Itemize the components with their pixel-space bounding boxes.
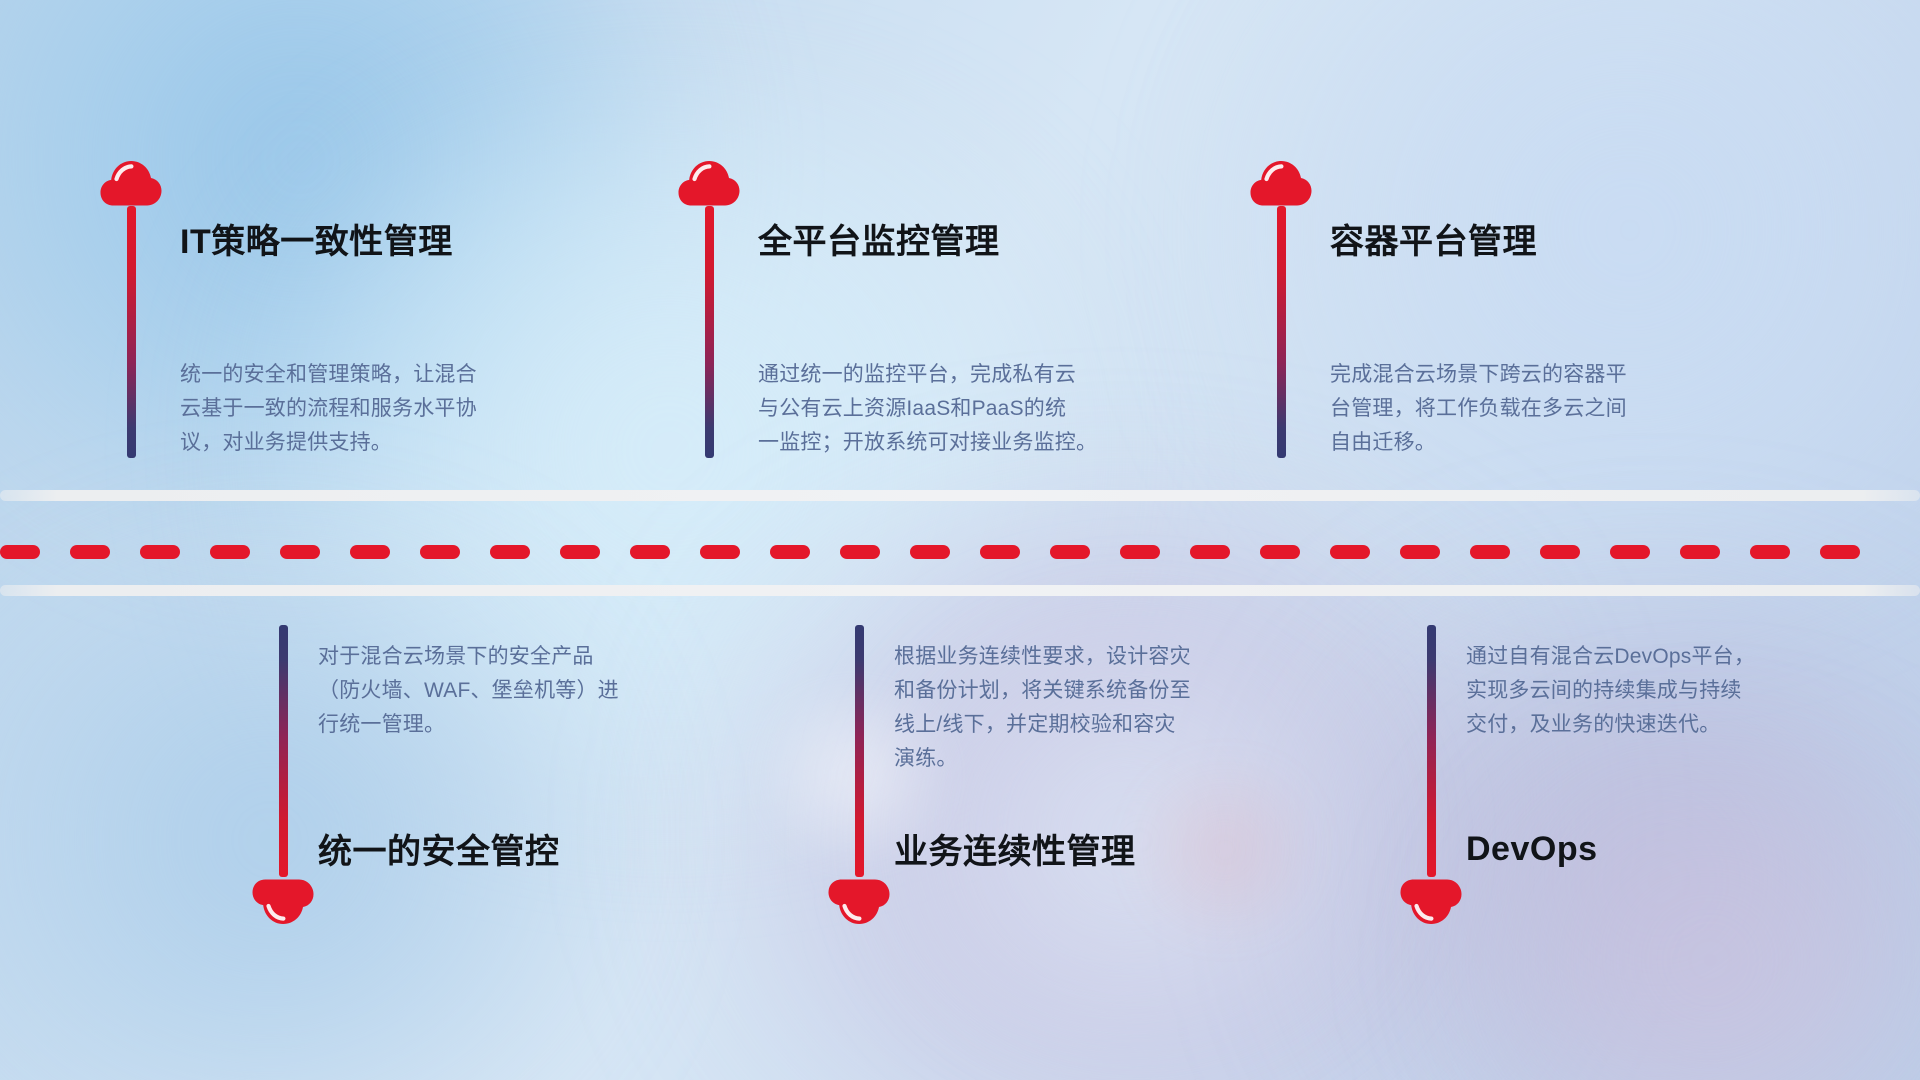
divider-dashed-line <box>0 545 1920 559</box>
background-speckle-pink <box>1110 760 1340 940</box>
top-item-3-title: 容器平台管理 <box>1330 225 1537 259</box>
divider-dash <box>1330 545 1370 559</box>
divider-dash <box>1050 545 1090 559</box>
bottom-item-3-title: DevOps <box>1466 832 1598 866</box>
divider-dash <box>1750 545 1790 559</box>
divider-dash <box>420 545 460 559</box>
bottom-item-2-body: 根据业务连续性要求，设计容灾 和备份计划，将关键系统备份至 线上/线下，并定期校… <box>894 640 1334 776</box>
divider-dash <box>630 545 670 559</box>
divider-dash <box>1680 545 1720 559</box>
cloud-icon <box>100 160 162 206</box>
divider-dash <box>770 545 810 559</box>
top-item-1-marker <box>100 160 162 458</box>
divider-dash <box>280 545 320 559</box>
divider-dash <box>1610 545 1650 559</box>
pin-stem <box>1277 206 1286 458</box>
pin-stem <box>855 625 864 877</box>
divider-dash <box>560 545 600 559</box>
cloud-icon <box>252 879 314 925</box>
bottom-item-3-body: 通过自有混合云DevOps平台， 实现多云间的持续集成与持续 交付，及业务的快速… <box>1466 640 1896 742</box>
pin-stem <box>127 206 136 458</box>
divider-dash <box>1120 545 1160 559</box>
bottom-item-1-title: 统一的安全管控 <box>318 835 560 869</box>
divider-dash <box>0 545 40 559</box>
top-item-2-title: 全平台监控管理 <box>758 225 1000 259</box>
bottom-item-1-marker <box>252 625 314 925</box>
top-item-2-marker <box>678 160 740 458</box>
bottom-item-1-body: 对于混合云场景下的安全产品 （防火墙、WAF、堡垒机等）进 行统一管理。 <box>318 640 758 742</box>
divider-bar-top <box>0 490 1920 501</box>
divider-dash <box>490 545 530 559</box>
divider-dash <box>1260 545 1300 559</box>
top-item-3-body: 完成混合云场景下跨云的容器平 台管理，将工作负载在多云之间 自由迁移。 <box>1330 358 1770 460</box>
divider-dash <box>1400 545 1440 559</box>
top-item-1-body: 统一的安全和管理策略，让混合 云基于一致的流程和服务水平协 议，对业务提供支持。 <box>180 358 620 460</box>
bottom-item-2-title: 业务连续性管理 <box>894 835 1136 869</box>
pin-stem <box>279 625 288 877</box>
cloud-icon <box>678 160 740 206</box>
divider-dash <box>140 545 180 559</box>
cloud-icon <box>1250 160 1312 206</box>
divider-bar-bottom <box>0 585 1920 596</box>
divider-dash <box>350 545 390 559</box>
cloud-icon <box>1400 879 1462 925</box>
divider-dash <box>1470 545 1510 559</box>
divider-dash <box>840 545 880 559</box>
top-item-2-body: 通过统一的监控平台，完成私有云 与公有云上资源IaaS和PaaS的统 一监控；开… <box>758 358 1218 460</box>
bottom-item-3-marker <box>1400 625 1462 925</box>
divider-dash <box>70 545 110 559</box>
pin-stem <box>705 206 714 458</box>
divider-dash <box>1190 545 1230 559</box>
top-item-3-marker <box>1250 160 1312 458</box>
divider-dash <box>210 545 250 559</box>
bottom-item-2-marker <box>828 625 890 925</box>
divider-dash <box>1540 545 1580 559</box>
pin-stem <box>1427 625 1436 877</box>
divider-dash <box>1820 545 1860 559</box>
cloud-icon <box>828 879 890 925</box>
divider-dash <box>910 545 950 559</box>
top-item-1-title: IT策略一致性管理 <box>180 225 453 259</box>
divider-dash <box>980 545 1020 559</box>
divider-dash <box>700 545 740 559</box>
infographic-canvas: IT策略一致性管理 统一的安全和管理策略，让混合 云基于一致的流程和服务水平协 … <box>0 0 1920 1080</box>
